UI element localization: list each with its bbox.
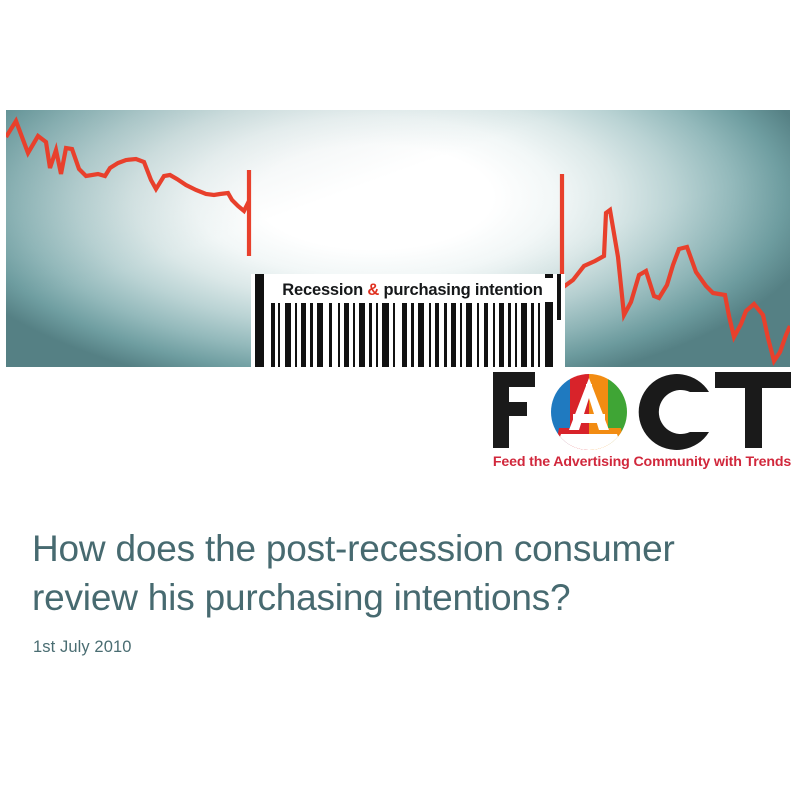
fact-logo: Feed the Advertising Community with Tren… <box>489 368 795 478</box>
barcode-title-prefix: Recession <box>282 282 367 299</box>
logo-letter-t <box>715 372 791 448</box>
title-block: How does the post-recession consumer rev… <box>32 524 762 657</box>
slide-title: How does the post-recession consumer rev… <box>32 524 762 622</box>
barcode-title-ampersand: & <box>367 282 379 299</box>
trend-line-left <box>6 121 249 211</box>
fact-wordmark <box>489 368 795 452</box>
slide-date: 1st July 2010 <box>33 638 762 657</box>
barcode-title-suffix: purchasing intention <box>379 282 543 299</box>
logo-letter-c <box>639 374 709 450</box>
slide-canvas: Recession & purchasing intention <box>0 0 800 800</box>
fact-tagline: Feed the Advertising Community with Tren… <box>489 454 795 470</box>
trend-line-right <box>562 210 790 361</box>
logo-letter-a-emblem <box>551 374 628 452</box>
recession-banner-image: Recession & purchasing intention <box>6 110 790 367</box>
fact-wordmark-svg <box>489 368 795 452</box>
barcode-title: Recession & purchasing intention <box>270 278 555 302</box>
logo-letter-f <box>493 372 535 448</box>
